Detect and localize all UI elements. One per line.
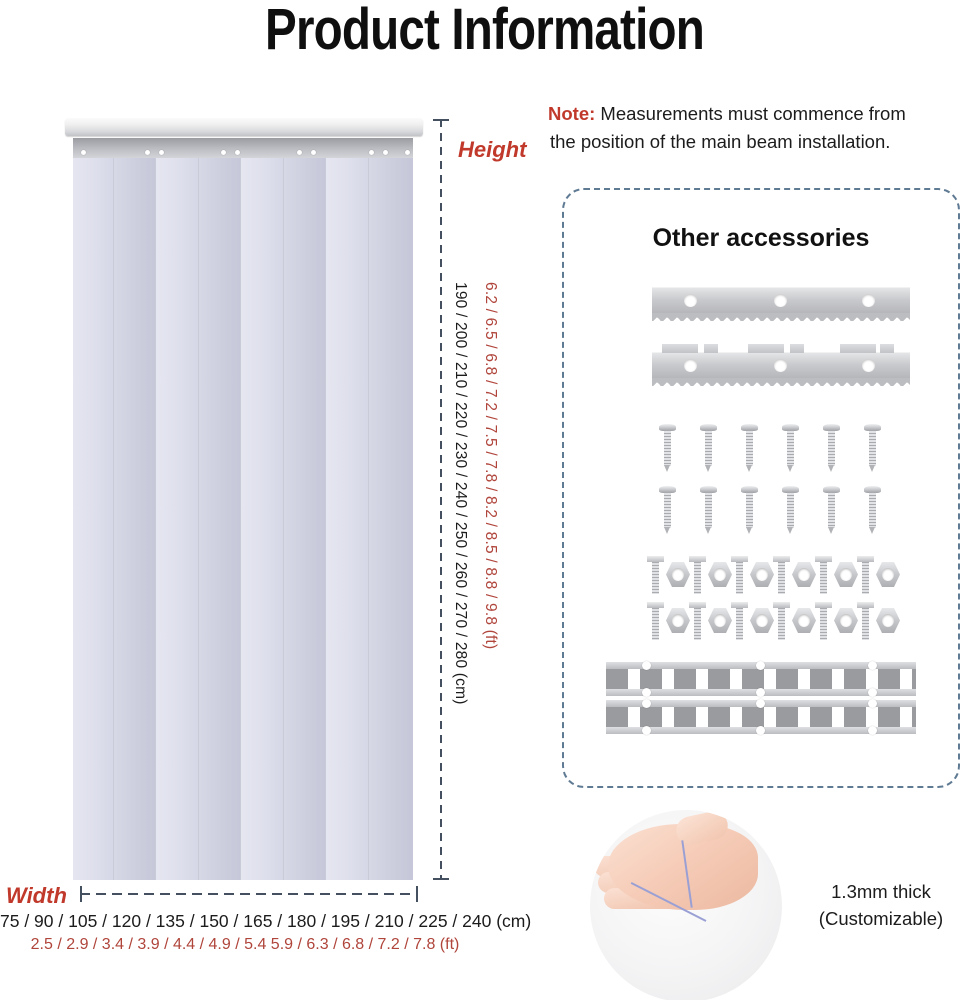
rail-mounting-hole <box>405 150 410 155</box>
bolt-icon <box>818 556 829 594</box>
bolt-icon <box>860 556 871 594</box>
plate-tab <box>790 344 804 353</box>
serrated-mounting-plate-icon <box>652 287 910 314</box>
width-dimension-cap-right <box>416 886 418 902</box>
hanger-rail-hole <box>756 688 765 697</box>
nut-hole <box>756 568 768 581</box>
note-text: Note: Measurements must commence from th… <box>548 100 968 156</box>
plate-teeth <box>652 378 910 386</box>
screw-icon <box>785 486 796 533</box>
screw-shaft <box>787 430 794 466</box>
screw-tip <box>746 527 752 534</box>
bolt-icon <box>776 602 787 640</box>
bolt-shaft <box>736 562 743 594</box>
plate-hole <box>774 359 787 372</box>
bolt-shaft <box>862 562 869 594</box>
screw-icon <box>703 486 714 533</box>
rail-mounting-hole <box>297 150 302 155</box>
bolt-shaft <box>694 562 701 594</box>
product-information-page: Product Information Note: Measurements m… <box>0 0 969 1000</box>
width-label: Width <box>6 883 67 909</box>
hanger-rail-hole <box>642 726 651 735</box>
serrated-mounting-plate-with-tabs-icon <box>652 352 910 379</box>
screw-shaft <box>705 492 712 528</box>
plate-tab <box>840 344 876 353</box>
bolt-icon <box>776 556 787 594</box>
plate-hole <box>862 294 875 307</box>
height-values-ft: 6.2 / 6.5 / 6.8 / 7.2 / 7.5 / 7.8 / 8.2 … <box>481 282 499 649</box>
hanger-rail-hole <box>868 661 877 670</box>
rail-mounting-hole <box>145 150 150 155</box>
hanger-rail-hole <box>756 699 765 708</box>
hanger-rail-slots <box>606 669 916 689</box>
nut-hole <box>882 614 894 627</box>
rail-mounting-hole <box>369 150 374 155</box>
plate-tab <box>662 344 698 353</box>
rail-mounting-hole <box>159 150 164 155</box>
screw-shaft <box>664 492 671 528</box>
bolt-icon <box>818 602 829 640</box>
thickness-line-1: 1.3mm thick <box>793 878 969 905</box>
plate-teeth <box>652 313 910 321</box>
height-dimension-cap-bottom <box>433 878 449 880</box>
pvc-edge <box>681 840 692 908</box>
screw-shaft <box>787 492 794 528</box>
flexibility-demo-photo <box>590 810 782 1000</box>
bolt-icon <box>650 602 661 640</box>
width-values-ft: 2.5 / 2.9 / 3.4 / 3.9 / 4.4 / 4.9 / 5.4 … <box>0 936 490 954</box>
curtain-strips <box>73 158 413 880</box>
hanger-rail-icon <box>606 700 916 734</box>
pvc-strip-curtain-illustration <box>63 118 425 880</box>
screw-icon <box>662 486 673 533</box>
screw-tip <box>869 465 875 472</box>
rail-mounting-hole <box>221 150 226 155</box>
rail-mounting-hole <box>311 150 316 155</box>
screw-shaft <box>746 492 753 528</box>
page-title: Product Information <box>87 0 882 63</box>
nut-hole <box>672 568 684 581</box>
thickness-caption: 1.3mm thick (Customizable) <box>793 878 969 932</box>
bolt-icon <box>734 602 745 640</box>
screw-icon <box>867 424 878 471</box>
hanger-rail-icon <box>606 662 916 696</box>
curtain-top-rail <box>65 118 423 136</box>
rail-mounting-hole <box>235 150 240 155</box>
plate-hole <box>684 359 697 372</box>
nut-hole <box>882 568 894 581</box>
screw-tip <box>705 465 711 472</box>
plate-hole <box>862 359 875 372</box>
bolt-shaft <box>694 608 701 640</box>
hanger-rail-hole <box>868 688 877 697</box>
screw-tip <box>746 465 752 472</box>
curtain-mounting-strip <box>73 138 413 160</box>
screw-icon <box>744 486 755 533</box>
height-values-cm: 190 / 200 / 210 / 220 / 230 / 240 / 250 … <box>451 282 469 705</box>
bolt-shaft <box>778 562 785 594</box>
rail-mounting-hole <box>81 150 86 155</box>
plate-tab <box>748 344 784 353</box>
screw-shaft <box>664 430 671 466</box>
rail-mounting-hole <box>383 150 388 155</box>
hanger-rail-slots <box>606 707 916 727</box>
nut-hole <box>798 568 810 581</box>
screw-icon <box>826 486 837 533</box>
accessories-title: Other accessories <box>562 224 960 253</box>
screw-icon <box>826 424 837 471</box>
note-line-1: Measurements must commence from <box>595 103 905 124</box>
bolt-icon <box>692 602 703 640</box>
screw-tip <box>664 465 670 472</box>
note-label: Note: <box>548 103 595 124</box>
bolt-icon <box>692 556 703 594</box>
bent-pvc-strip <box>614 836 724 948</box>
accessories-panel <box>562 188 960 788</box>
plate-hole <box>774 294 787 307</box>
nut-hole <box>714 614 726 627</box>
nut-hole <box>756 614 768 627</box>
screw-shaft <box>869 492 876 528</box>
hanger-rail-hole <box>642 699 651 708</box>
hanger-rail-hole <box>642 688 651 697</box>
nut-hole <box>714 568 726 581</box>
screw-tip <box>828 527 834 534</box>
bolt-shaft <box>652 608 659 640</box>
hanger-rail-hole <box>868 726 877 735</box>
screw-tip <box>787 465 793 472</box>
bolt-shaft <box>778 608 785 640</box>
nut-hole <box>840 614 852 627</box>
bolt-shaft <box>862 608 869 640</box>
bolt-shaft <box>652 562 659 594</box>
width-values-cm: 75 / 90 / 105 / 120 / 135 / 150 / 165 / … <box>0 911 490 932</box>
screw-shaft <box>869 430 876 466</box>
screw-shaft <box>705 430 712 466</box>
hanger-rail-hole <box>756 661 765 670</box>
screw-tip <box>787 527 793 534</box>
screw-shaft <box>828 492 835 528</box>
screw-tip <box>705 527 711 534</box>
screw-icon <box>785 424 796 471</box>
hanger-rail-hole <box>642 661 651 670</box>
bolt-shaft <box>736 608 743 640</box>
screw-icon <box>662 424 673 471</box>
screw-shaft <box>828 430 835 466</box>
screw-icon <box>703 424 714 471</box>
height-dimension-line <box>440 119 442 880</box>
nut-hole <box>840 568 852 581</box>
plate-hole <box>684 294 697 307</box>
bolt-shaft <box>820 562 827 594</box>
width-dimension-line <box>80 893 418 895</box>
screw-shaft <box>746 430 753 466</box>
bolt-shaft <box>820 608 827 640</box>
plate-tab <box>704 344 718 353</box>
screw-tip <box>869 527 875 534</box>
bolt-icon <box>860 602 871 640</box>
hanger-rail-hole <box>756 726 765 735</box>
note-line-2: the position of the main beam installati… <box>550 128 968 156</box>
hanger-rail-hole <box>868 699 877 708</box>
screw-tip <box>828 465 834 472</box>
bolt-icon <box>650 556 661 594</box>
nut-hole <box>672 614 684 627</box>
screw-icon <box>744 424 755 471</box>
thickness-line-2: (Customizable) <box>793 905 969 932</box>
screw-icon <box>867 486 878 533</box>
plate-tab <box>880 344 894 353</box>
bolt-icon <box>734 556 745 594</box>
nut-hole <box>798 614 810 627</box>
height-label: Height <box>458 137 526 163</box>
screw-tip <box>664 527 670 534</box>
pvc-edge <box>631 882 707 922</box>
curtain-strip <box>368 158 414 880</box>
